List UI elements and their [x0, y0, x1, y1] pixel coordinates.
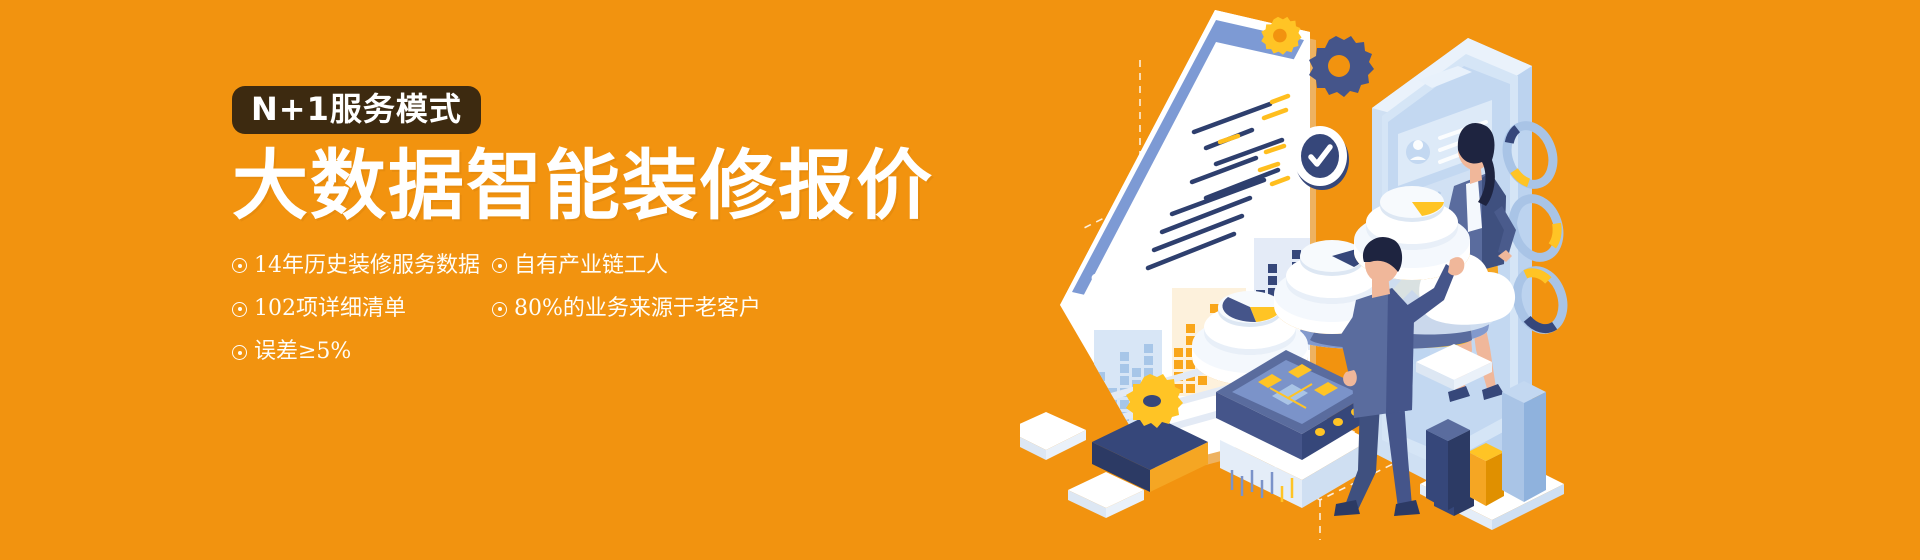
- bullet-row: 102项详细清单 80%的业务来源于老客户: [232, 296, 872, 322]
- bullet-row: 误差≥5%: [232, 339, 872, 365]
- white-tile: [1020, 412, 1086, 460]
- list-item-label: 自有产业链工人: [514, 253, 668, 279]
- list-item-label: 102项详细清单: [254, 296, 406, 322]
- circled-dot-icon: [232, 258, 247, 273]
- bullet-row: 14年历史装修服务数据 自有产业链工人: [232, 253, 872, 279]
- feature-bullet-list: 14年历史装修服务数据 自有产业链工人 102项详细清单 80%的业务来源于老客…: [232, 253, 872, 366]
- service-model-badge: N+1服务模式: [232, 86, 481, 134]
- circled-dot-icon: [232, 345, 247, 360]
- big-data-isometric-illustration: [1020, 0, 1640, 560]
- circled-dot-icon: [492, 302, 507, 317]
- page-title: 大数据智能装修报价: [232, 146, 1032, 227]
- promo-banner: N+1服务模式 大数据智能装修报价 14年历史装修服务数据 自有产业链工人 10…: [0, 0, 1920, 560]
- list-item-label: 误差≥5%: [254, 339, 351, 365]
- circled-dot-icon: [232, 302, 247, 317]
- list-item-label: 14年历史装修服务数据: [254, 253, 480, 279]
- list-item: 自有产业链工人: [492, 253, 668, 279]
- list-item-label: 80%的业务来源于老客户: [514, 296, 761, 322]
- list-item: 14年历史装修服务数据: [232, 253, 492, 279]
- list-item: 80%的业务来源于老客户: [492, 296, 761, 322]
- list-item: 误差≥5%: [232, 339, 492, 365]
- bar-chart-3d-extra-bar: [1426, 419, 1470, 510]
- gear-icon: [1309, 36, 1374, 97]
- circled-dot-icon: [492, 258, 507, 273]
- banner-copy-block: N+1服务模式 大数据智能装修报价 14年历史装修服务数据 自有产业链工人 10…: [232, 86, 1032, 383]
- list-item: 102项详细清单: [232, 296, 492, 322]
